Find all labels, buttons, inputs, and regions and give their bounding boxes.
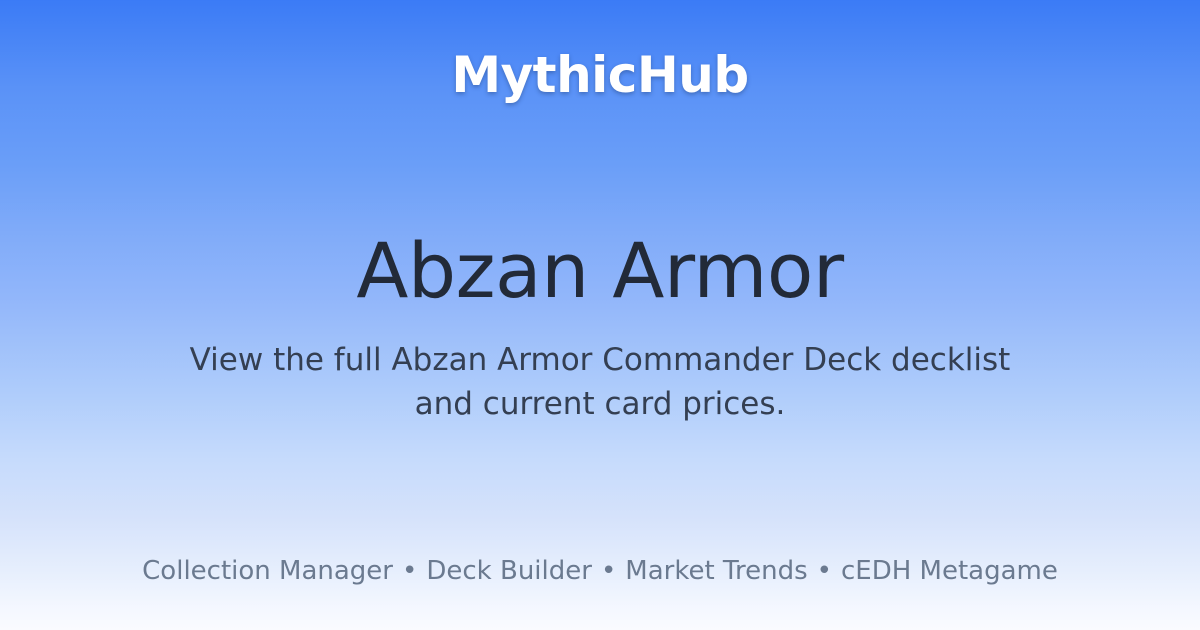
page-title: Abzan Armor	[356, 230, 843, 312]
brand-logo: MythicHub	[451, 50, 748, 100]
hero-section: Abzan Armor View the full Abzan Armor Co…	[0, 230, 1200, 426]
og-social-card: MythicHub Abzan Armor View the full Abza…	[0, 0, 1200, 630]
footer-separator-bullet-3: •	[808, 558, 841, 584]
footer-link-market-trends[interactable]: Market Trends	[625, 558, 807, 584]
footer-link-cedh-metagame[interactable]: cEDH Metagame	[841, 558, 1058, 584]
footer-link-list: Collection Manager • Deck Builder • Mark…	[142, 558, 1058, 584]
footer-separator-bullet-2: •	[592, 558, 625, 584]
footer: Collection Manager • Deck Builder • Mark…	[0, 512, 1200, 630]
page-subtitle: View the full Abzan Armor Commander Deck…	[190, 338, 1011, 426]
subtitle-line-2: and current card prices.	[415, 386, 786, 422]
footer-link-collection-manager[interactable]: Collection Manager	[142, 558, 393, 584]
footer-separator-bullet-1: •	[393, 558, 426, 584]
footer-link-deck-builder[interactable]: Deck Builder	[426, 558, 592, 584]
brand-header: MythicHub	[0, 0, 1200, 150]
subtitle-line-1: View the full Abzan Armor Commander Deck…	[190, 342, 1011, 378]
